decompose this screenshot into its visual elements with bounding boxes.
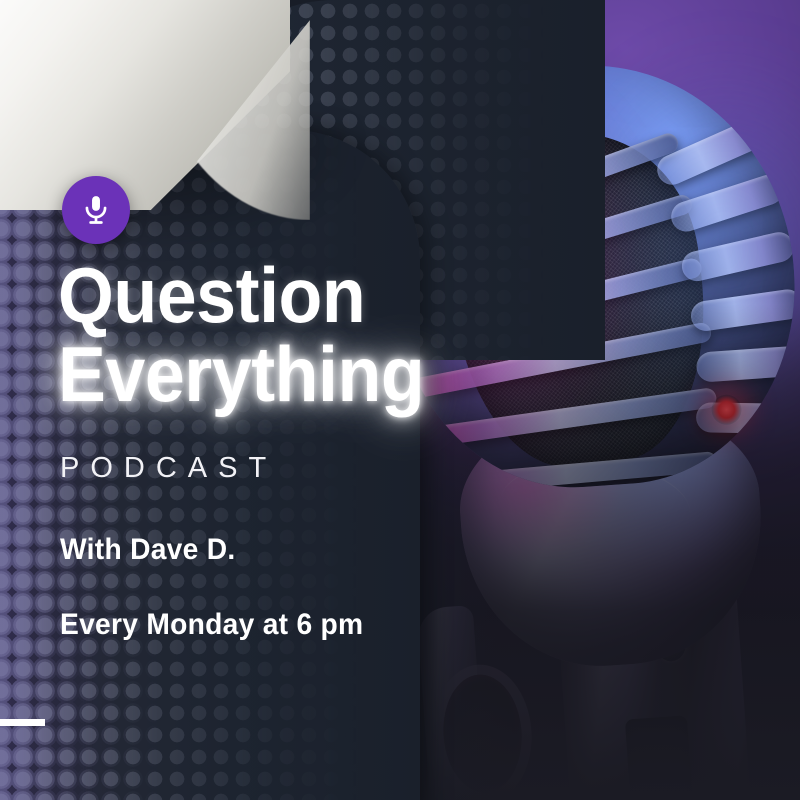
microphone-badge xyxy=(62,176,130,244)
podcast-meta: With Dave D. Every Monday at 6 pm xyxy=(60,533,460,683)
title-line-question: Question xyxy=(58,258,444,333)
podcast-cover-art: Question Everything PODCAST With Dave D.… xyxy=(0,0,800,800)
podcast-subtitle: PODCAST xyxy=(60,452,277,485)
schedule-line: Every Monday at 6 pm xyxy=(60,608,436,642)
host-line: With Dave D. xyxy=(60,533,436,567)
microphone-icon xyxy=(79,193,113,227)
title-line-everything: Everything xyxy=(58,333,444,416)
podcast-title: Question Everything xyxy=(58,258,478,416)
bottom-accent-rule xyxy=(0,719,45,726)
